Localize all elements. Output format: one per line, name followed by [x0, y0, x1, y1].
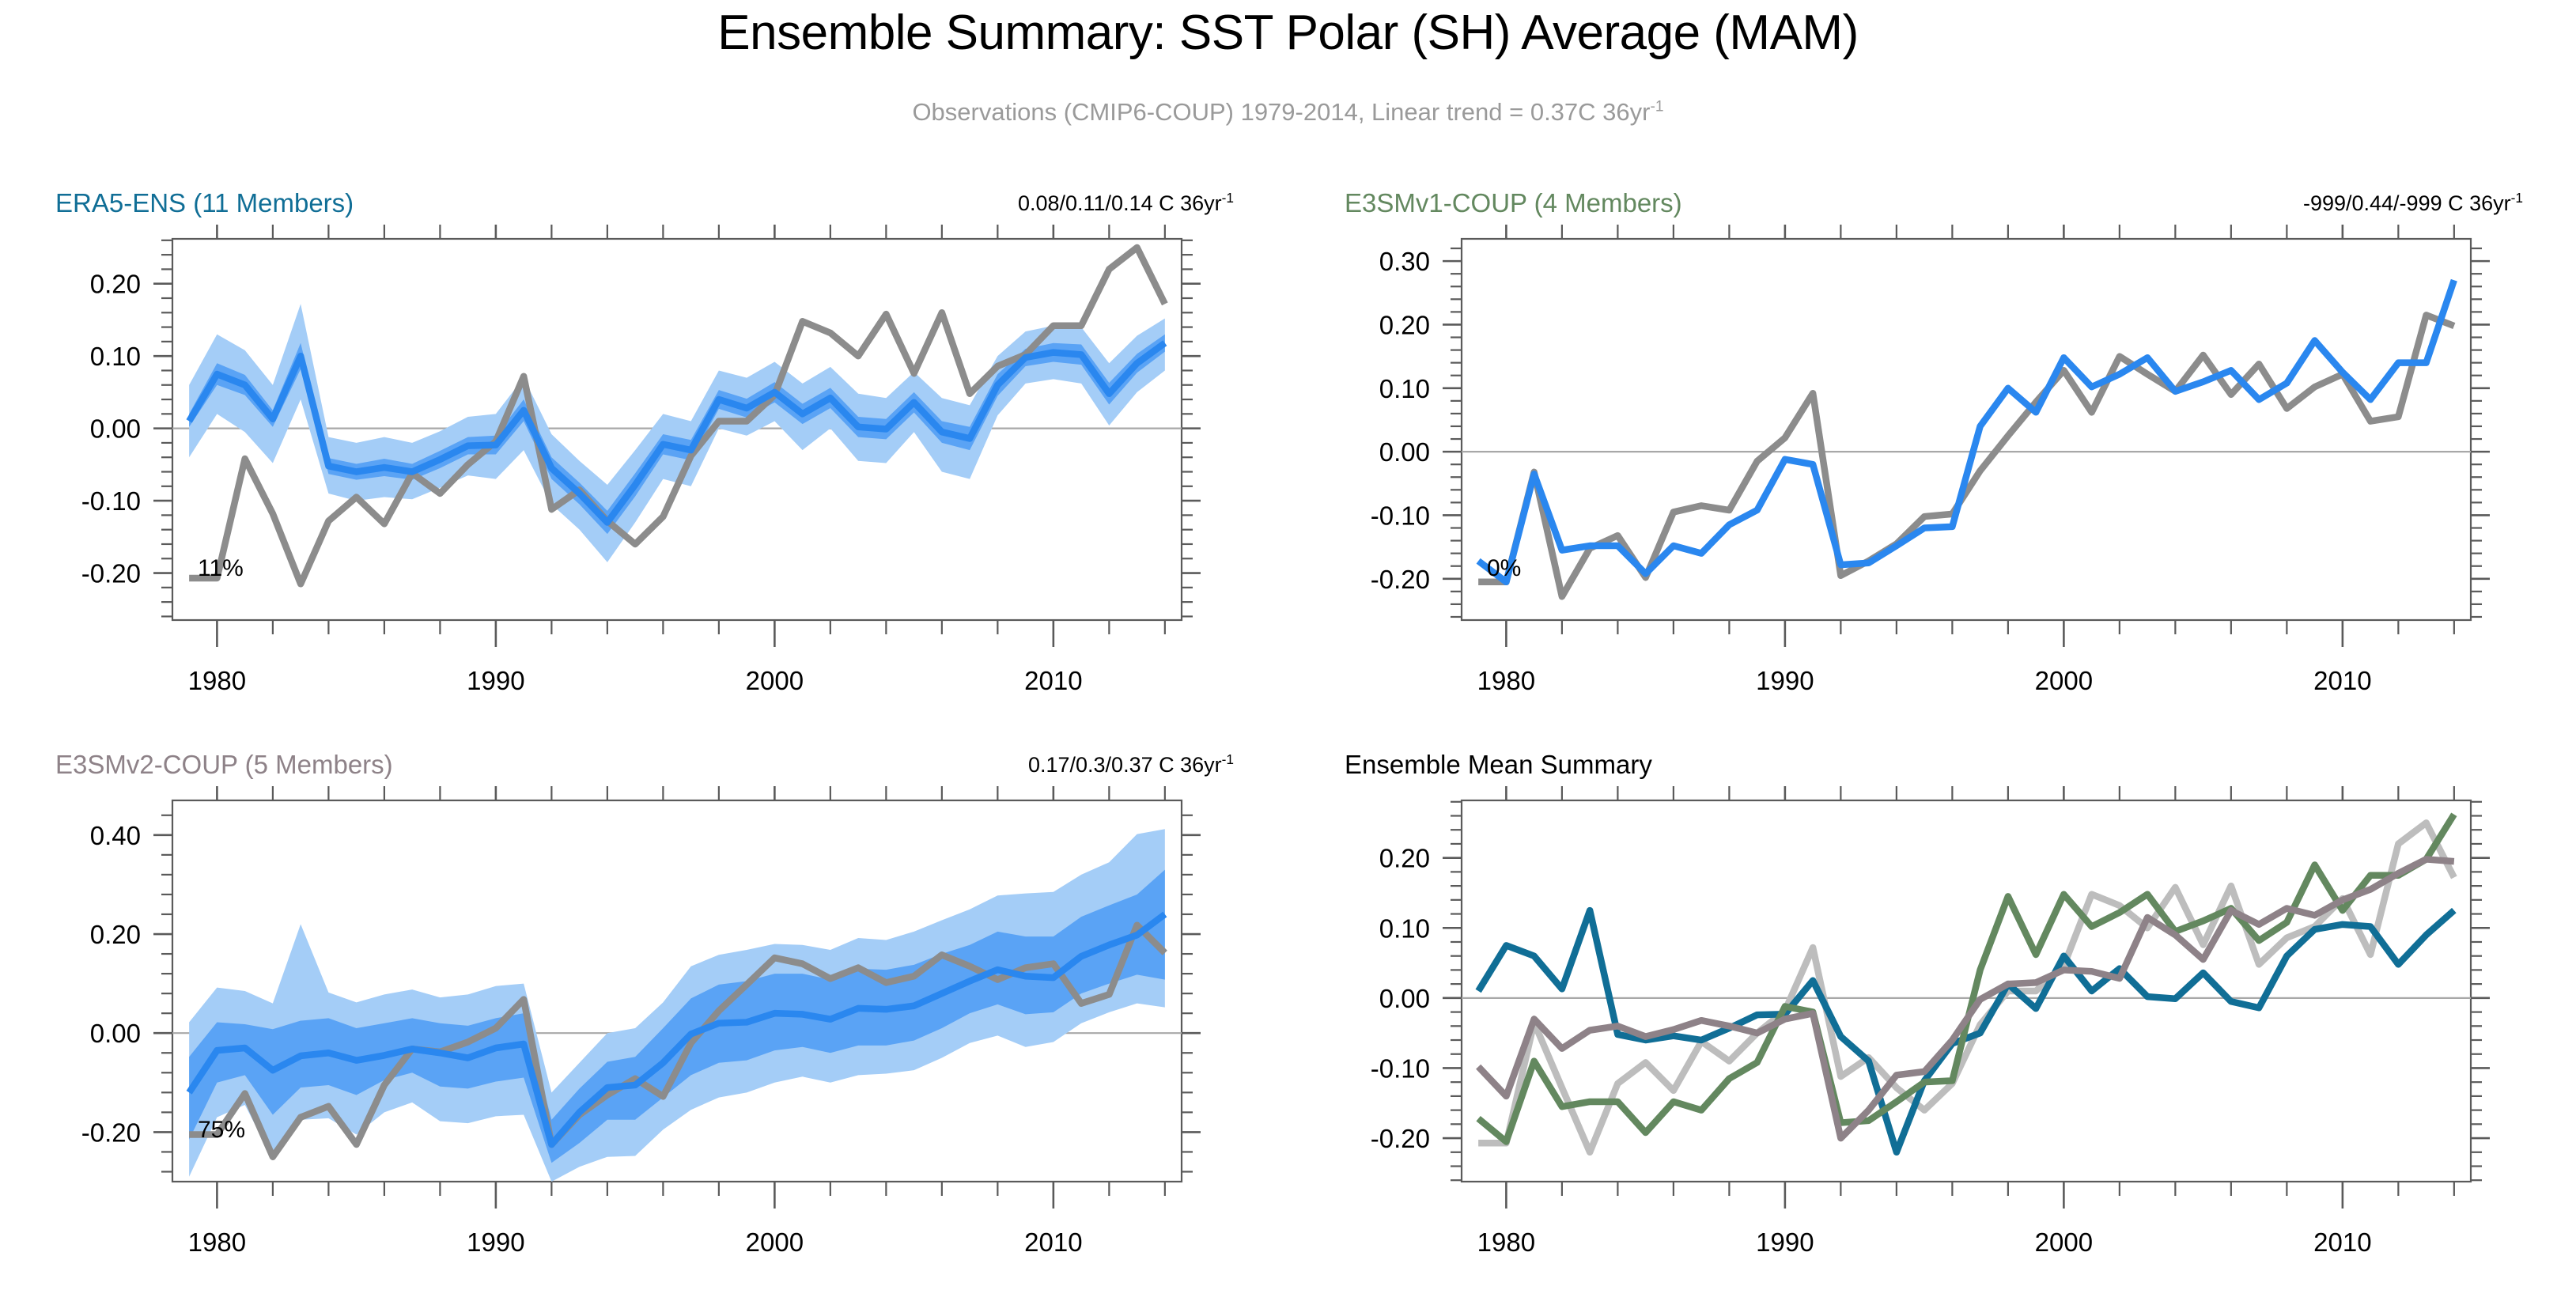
y-axis-tick-label: 0.20	[90, 920, 141, 949]
x-axis-tick-label: 1990	[467, 1227, 524, 1257]
y-axis-tick-label: -0.20	[1371, 565, 1430, 594]
panel-e3smv1-coup: E3SMv1-COUP (4 Members) -999/0.44/-999 C…	[1345, 188, 2531, 710]
y-axis-tick-label: 0.10	[1379, 374, 1430, 403]
plot-ensemble-mean-summary[interactable]: 0.200.100.00-0.10-0.201980199020002010	[1345, 786, 2531, 1277]
y-axis-tick-label: -0.10	[81, 486, 141, 516]
series-line-model-mean	[1478, 280, 2454, 582]
plot-era5-ens[interactable]: 0.200.100.00-0.10-0.20198019902000201011…	[55, 225, 1242, 715]
x-axis-tick-label: 2010	[2313, 666, 2371, 695]
y-axis-tick-label: 0.10	[90, 342, 141, 371]
series-line-model-mean	[1478, 815, 2454, 1142]
y-axis-tick-label: -0.20	[81, 559, 141, 588]
panel-title-era5-ens: ERA5-ENS (11 Members)	[55, 188, 354, 218]
y-axis-tick-label: -0.10	[1371, 1053, 1430, 1083]
panel-trend-e3smv2-coup: 0.17/0.3/0.37 C 36yr-1	[1028, 751, 1234, 777]
y-axis-tick-label: 0.20	[1379, 844, 1430, 873]
x-axis-tick-label: 2010	[2313, 1227, 2371, 1257]
plot-e3smv2-coup[interactable]: 0.400.200.00-0.20198019902000201075%	[55, 786, 1242, 1277]
percent-annotation: 11%	[198, 555, 244, 581]
y-axis-tick-label: 0.20	[1379, 310, 1430, 339]
percent-annotation: 0%	[1487, 555, 1521, 581]
x-axis-tick-label: 1980	[1477, 1227, 1535, 1257]
x-axis-tick-label: 1980	[188, 666, 246, 695]
subtitle-exponent: -1	[1650, 99, 1663, 115]
x-axis-tick-label: 2010	[1024, 1227, 1082, 1257]
y-axis-tick-label: 0.30	[1379, 247, 1430, 276]
panel-title-e3smv1-coup: E3SMv1-COUP (4 Members)	[1345, 188, 1682, 218]
figure-subtitle: Observations (CMIP6-COUP) 1979-2014, Lin…	[0, 98, 2576, 127]
figure-title: Ensemble Summary: SST Polar (SH) Average…	[0, 5, 2576, 61]
x-axis-tick-label: 2010	[1024, 666, 1082, 695]
percent-annotation: 75%	[198, 1117, 245, 1143]
panel-trend-e3smv1-coup: -999/0.44/-999 C 36yr-1	[2303, 190, 2523, 216]
y-axis-tick-label: 0.10	[1379, 913, 1430, 943]
x-axis-tick-label: 1990	[1756, 1227, 1814, 1257]
y-axis-tick-label: 0.20	[90, 270, 141, 299]
figure-root: Ensemble Summary: SST Polar (SH) Average…	[0, 0, 2576, 1305]
axis-frame	[1462, 239, 2471, 620]
y-axis-tick-label: -0.20	[81, 1118, 141, 1147]
x-axis-tick-label: 2000	[2035, 666, 2093, 695]
y-axis-tick-label: 0.00	[90, 414, 141, 444]
panel-title-e3smv2-coup: E3SMv2-COUP (5 Members)	[55, 750, 393, 780]
y-axis-tick-label: -0.20	[1371, 1124, 1430, 1153]
y-axis-tick-label: 0.00	[1379, 437, 1430, 467]
x-axis-tick-label: 1980	[188, 1227, 246, 1257]
panel-title-ensemble-mean-summary: Ensemble Mean Summary	[1345, 750, 1652, 780]
y-axis-tick-label: -0.10	[1371, 501, 1430, 530]
x-axis-tick-label: 1990	[467, 666, 524, 695]
y-axis-tick-label: 0.40	[90, 821, 141, 850]
y-axis-tick-label: 0.00	[1379, 984, 1430, 1013]
x-axis-tick-label: 2000	[746, 1227, 804, 1257]
axis-frame	[1462, 800, 2471, 1182]
x-axis-tick-label: 2000	[746, 666, 804, 695]
series-line-observations	[189, 248, 1165, 584]
panel-era5-ens: ERA5-ENS (11 Members) 0.08/0.11/0.14 C 3…	[55, 188, 1242, 710]
y-axis-tick-label: 0.00	[90, 1019, 141, 1048]
panel-ensemble-mean-summary: Ensemble Mean Summary 0.200.100.00-0.10-…	[1345, 750, 2531, 1280]
ensemble-spread-band	[189, 304, 1165, 562]
x-axis-tick-label: 1980	[1477, 666, 1535, 695]
x-axis-tick-label: 1990	[1756, 666, 1814, 695]
plot-e3smv1-coup[interactable]: 0.300.200.100.00-0.10-0.2019801990200020…	[1345, 225, 2531, 715]
panel-e3smv2-coup: E3SMv2-COUP (5 Members) 0.17/0.3/0.37 C …	[55, 750, 1242, 1280]
panel-trend-era5-ens: 0.08/0.11/0.14 C 36yr-1	[1018, 190, 1234, 216]
x-axis-tick-label: 2000	[2035, 1227, 2093, 1257]
